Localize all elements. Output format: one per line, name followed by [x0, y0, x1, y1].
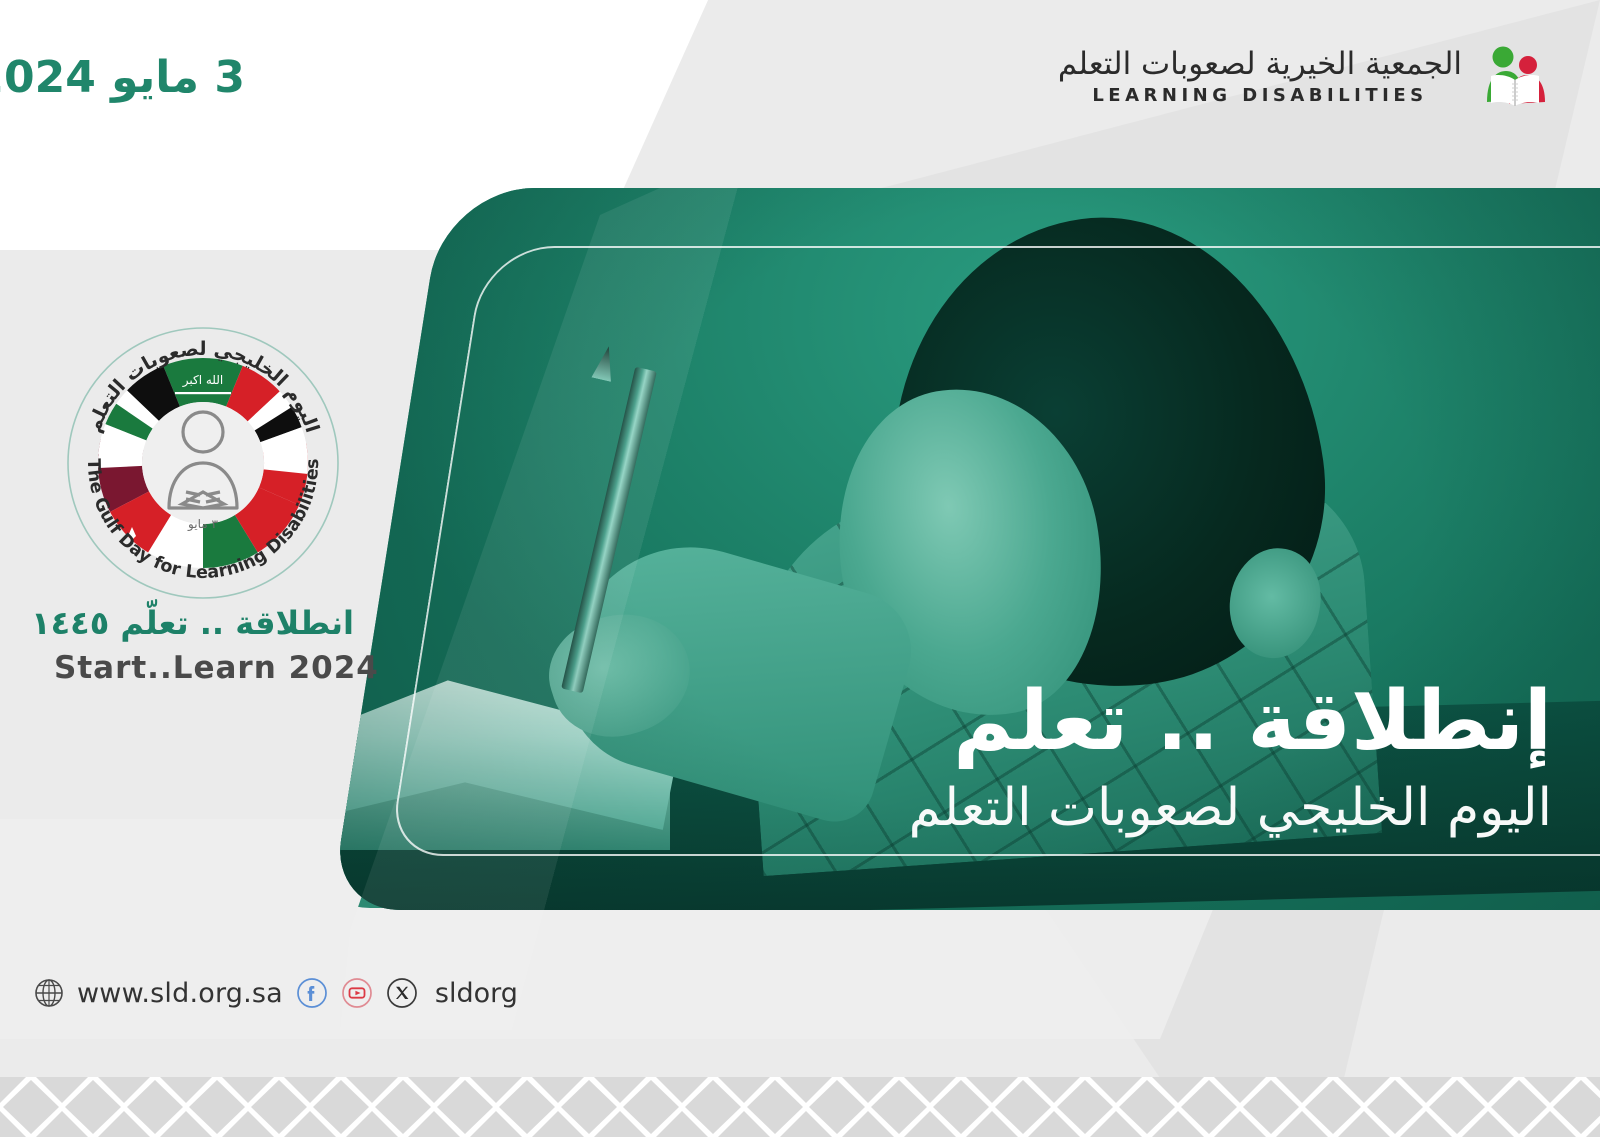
event-date: 3 مايو 2024: [0, 52, 245, 103]
association-brand-lockup: الجمعية الخيرية لصعوبات التعلم LEARNING …: [1058, 40, 1552, 114]
hero-headline: إنطلاقة .. تعلم: [909, 680, 1552, 764]
footer-contact-bar: www.sld.org.sa sldorg: [34, 977, 518, 1009]
website-url[interactable]: www.sld.org.sa: [77, 978, 283, 1009]
x-twitter-icon[interactable]: [386, 977, 418, 1009]
bottom-pattern-band: [0, 1077, 1600, 1137]
campaign-slogan-english: Start..Learn 2024: [54, 650, 354, 686]
svg-text:الله اكبر: الله اكبر: [182, 373, 224, 388]
association-name-english: LEARNING DISABILITIES: [1092, 87, 1427, 105]
youtube-icon[interactable]: [341, 977, 373, 1009]
poster-canvas: 3 مايو 2024 الجمعية الخيرية لصعوبات التع…: [0, 0, 1600, 1137]
association-logo-icon: [1478, 40, 1552, 114]
campaign-lockup: انطلاقة .. تعلّم ١٤٤٥ Start..Learn 2024: [54, 604, 354, 686]
hero-text-block: إنطلاقة .. تعلم اليوم الخليجي لصعوبات ال…: [909, 680, 1552, 838]
gulf-day-emblem: الله اكبر: [62, 322, 344, 604]
diamond-pattern: [0, 1077, 1600, 1137]
association-brand-text: الجمعية الخيرية لصعوبات التعلم LEARNING …: [1058, 49, 1462, 105]
association-name-arabic: الجمعية الخيرية لصعوبات التعلم: [1058, 49, 1462, 80]
emblem-center-date: ٣ مايو: [187, 517, 218, 532]
social-handle[interactable]: sldorg: [435, 978, 518, 1009]
hero-subheadline: اليوم الخليجي لصعوبات التعلم: [909, 778, 1552, 838]
campaign-slogan-arabic: انطلاقة .. تعلّم ١٤٤٥: [54, 604, 354, 642]
facebook-icon[interactable]: [296, 977, 328, 1009]
globe-icon: [34, 978, 64, 1008]
